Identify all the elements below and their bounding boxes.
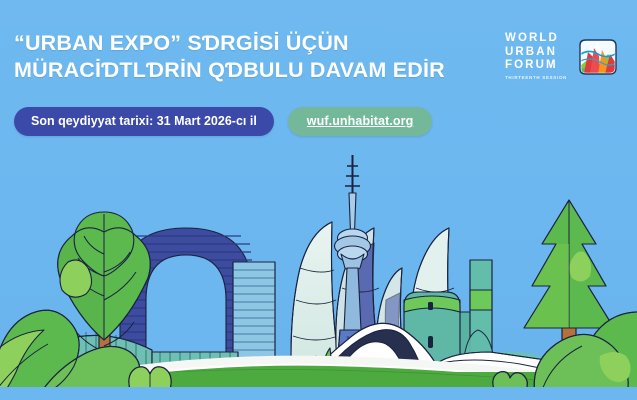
logo-line-forum: FORUM: [505, 59, 567, 73]
deadline-badge: Son qeydiyyat tarixi: 31 Mart 2026-cı il: [14, 107, 274, 136]
deadline-badge-label: Son qeydiyyat tarixi: 31 Mart 2026-cı il: [31, 114, 257, 128]
page-title: “URBAN EXPO” SƊRGİSİ ÜÇÜN MÜRACİƊTLƊRİN …: [14, 30, 484, 84]
wuf-emblem-icon: [574, 36, 620, 78]
water-strip: [0, 387, 637, 400]
world-urban-forum-logo: WORLD URBAN FORUM THIRTEENTH SESSION: [505, 32, 620, 82]
website-badge[interactable]: wuf.unhabitat.org: [288, 107, 433, 136]
website-badge-label: wuf.unhabitat.org: [307, 114, 414, 128]
urban-expo-banner: “URBAN EXPO” SƊRGİSİ ÜÇÜN MÜRACİƊTLƊRİN …: [0, 0, 637, 400]
logo-line-world: WORLD: [505, 32, 567, 46]
badge-row: Son qeydiyyat tarixi: 31 Mart 2026-cı il…: [14, 107, 432, 136]
logo-wordmark: WORLD URBAN FORUM THIRTEENTH SESSION: [505, 32, 567, 82]
logo-session-label: THIRTEENTH SESSION: [505, 74, 567, 82]
logo-line-urban: URBAN: [505, 46, 567, 60]
